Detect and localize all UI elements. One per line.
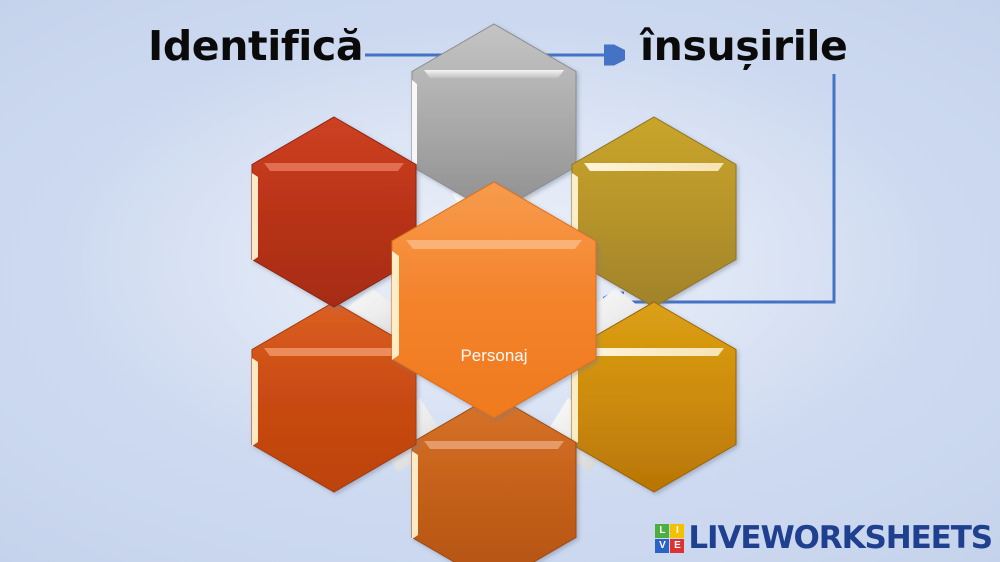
liveworksheets-wordmark: LIVEWORKSHEETS bbox=[688, 523, 992, 554]
logo-tile-v: V bbox=[655, 539, 669, 553]
hex-bottom-orange-top-highlight bbox=[424, 441, 564, 449]
hex-bottom-orange[interactable] bbox=[412, 395, 576, 562]
hex-upper-right-gold-top-highlight bbox=[584, 163, 724, 171]
hex-center-personaj-face bbox=[392, 182, 596, 418]
hex-top-gray-top-highlight bbox=[424, 70, 564, 78]
hex-center-personaj-label: Personaj bbox=[460, 346, 527, 365]
hex-upper-right-gold[interactable] bbox=[572, 117, 736, 307]
logo-tile-l: L bbox=[655, 524, 669, 538]
hex-center-personaj-top-highlight bbox=[406, 240, 582, 249]
hex-upper-left-red-top-highlight bbox=[264, 163, 404, 171]
hex-lower-left-burnt-top-highlight bbox=[264, 348, 404, 356]
heading-identifica: Identifică bbox=[148, 26, 363, 67]
hex-center-personaj[interactable]: Personaj bbox=[392, 182, 596, 418]
heading-insusirile: însușirile bbox=[640, 26, 847, 67]
slide-canvas: însușirile --> bbox=[0, 0, 1000, 562]
hexagon-cluster-smartart: Personaj bbox=[0, 0, 1000, 562]
hex-upper-left-red-left-bevel bbox=[252, 173, 258, 261]
hex-center-personaj-left-bevel bbox=[392, 251, 399, 360]
hex-upper-left-red-face bbox=[252, 117, 416, 307]
hex-top-gray-left-bevel bbox=[412, 80, 417, 168]
hex-bottom-orange-face bbox=[412, 395, 576, 562]
logo-tile-i: I bbox=[670, 524, 684, 538]
hex-lower-left-burnt-left-bevel bbox=[252, 358, 258, 446]
hex-bottom-orange-left-bevel bbox=[412, 451, 418, 539]
liveworksheets-logo-tiles: L I V E bbox=[655, 524, 684, 553]
hex-lower-right-amber-top-highlight bbox=[584, 348, 724, 356]
liveworksheets-logo[interactable]: L I V E LIVEWORKSHEETS bbox=[655, 523, 992, 554]
hex-upper-left-red[interactable] bbox=[252, 117, 416, 307]
logo-tile-e: E bbox=[670, 539, 684, 553]
hex-upper-right-gold-face bbox=[572, 117, 736, 307]
